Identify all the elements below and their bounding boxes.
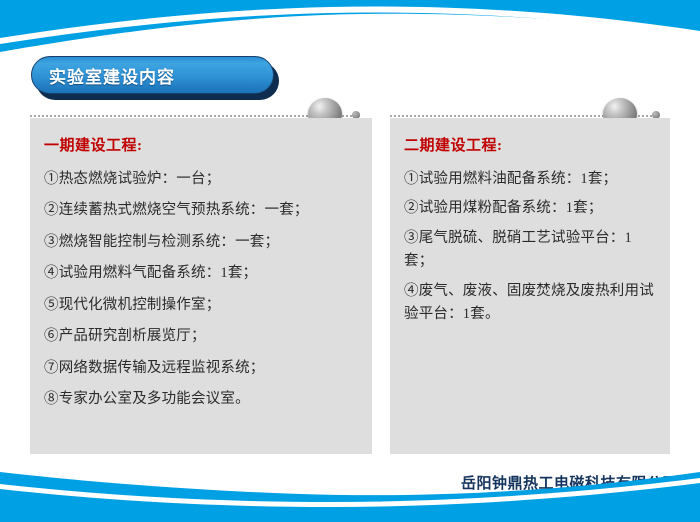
slide-canvas: 实验室建设内容 一期建设工程: ①热态燃烧试验炉：一台； ②连续蓄热式燃烧空气预…	[0, 0, 700, 522]
panel-phase-two: 二期建设工程: ①试验用燃料油配备系统：1套； ②试验用煤粉配备系统：1套； ③…	[390, 118, 670, 454]
footer-company-name: 岳阳钟鼎热工电磁科技有限公司	[461, 472, 678, 493]
list-item: ⑦网络数据传输及远程监视系统；	[44, 357, 360, 380]
dotted-line-icon	[390, 115, 660, 117]
list-item: ③燃烧智能控制与检测系统：一套；	[44, 231, 360, 254]
panel-heading: 二期建设工程:	[404, 134, 658, 155]
list-item: ②连续蓄热式燃烧空气预热系统：一套；	[44, 199, 360, 222]
top-wave-decoration	[0, 0, 700, 60]
list-item: ②试验用煤粉配备系统：1套；	[404, 197, 658, 220]
list-item: ⑧专家办公室及多功能会议室。	[44, 388, 360, 411]
section-title: 实验室建设内容	[31, 56, 274, 94]
section-title-pill: 实验室建设内容	[31, 56, 274, 94]
list-item: ⑤现代化微机控制操作室；	[44, 294, 360, 317]
list-item: ④试验用燃料气配备系统：1套；	[44, 262, 360, 285]
list-item: ③尾气脱硫、脱硝工艺试验平台：1套；	[404, 227, 658, 274]
panel-heading: 一期建设工程:	[44, 134, 360, 155]
list-item: ①试验用燃料油配备系统：1套；	[404, 168, 658, 191]
list-item: ①热态燃烧试验炉：一台；	[44, 168, 360, 191]
section-title-label: 实验室建设内容	[32, 63, 175, 88]
panel-phase-one: 一期建设工程: ①热态燃烧试验炉：一台； ②连续蓄热式燃烧空气预热系统：一套； …	[30, 118, 372, 454]
list-item: ⑥产品研究剖析展览厅；	[44, 325, 360, 348]
dotted-line-icon	[30, 115, 360, 117]
list-item: ④废气、废液、固废焚烧及废热利用试验平台：1套。	[404, 280, 658, 327]
